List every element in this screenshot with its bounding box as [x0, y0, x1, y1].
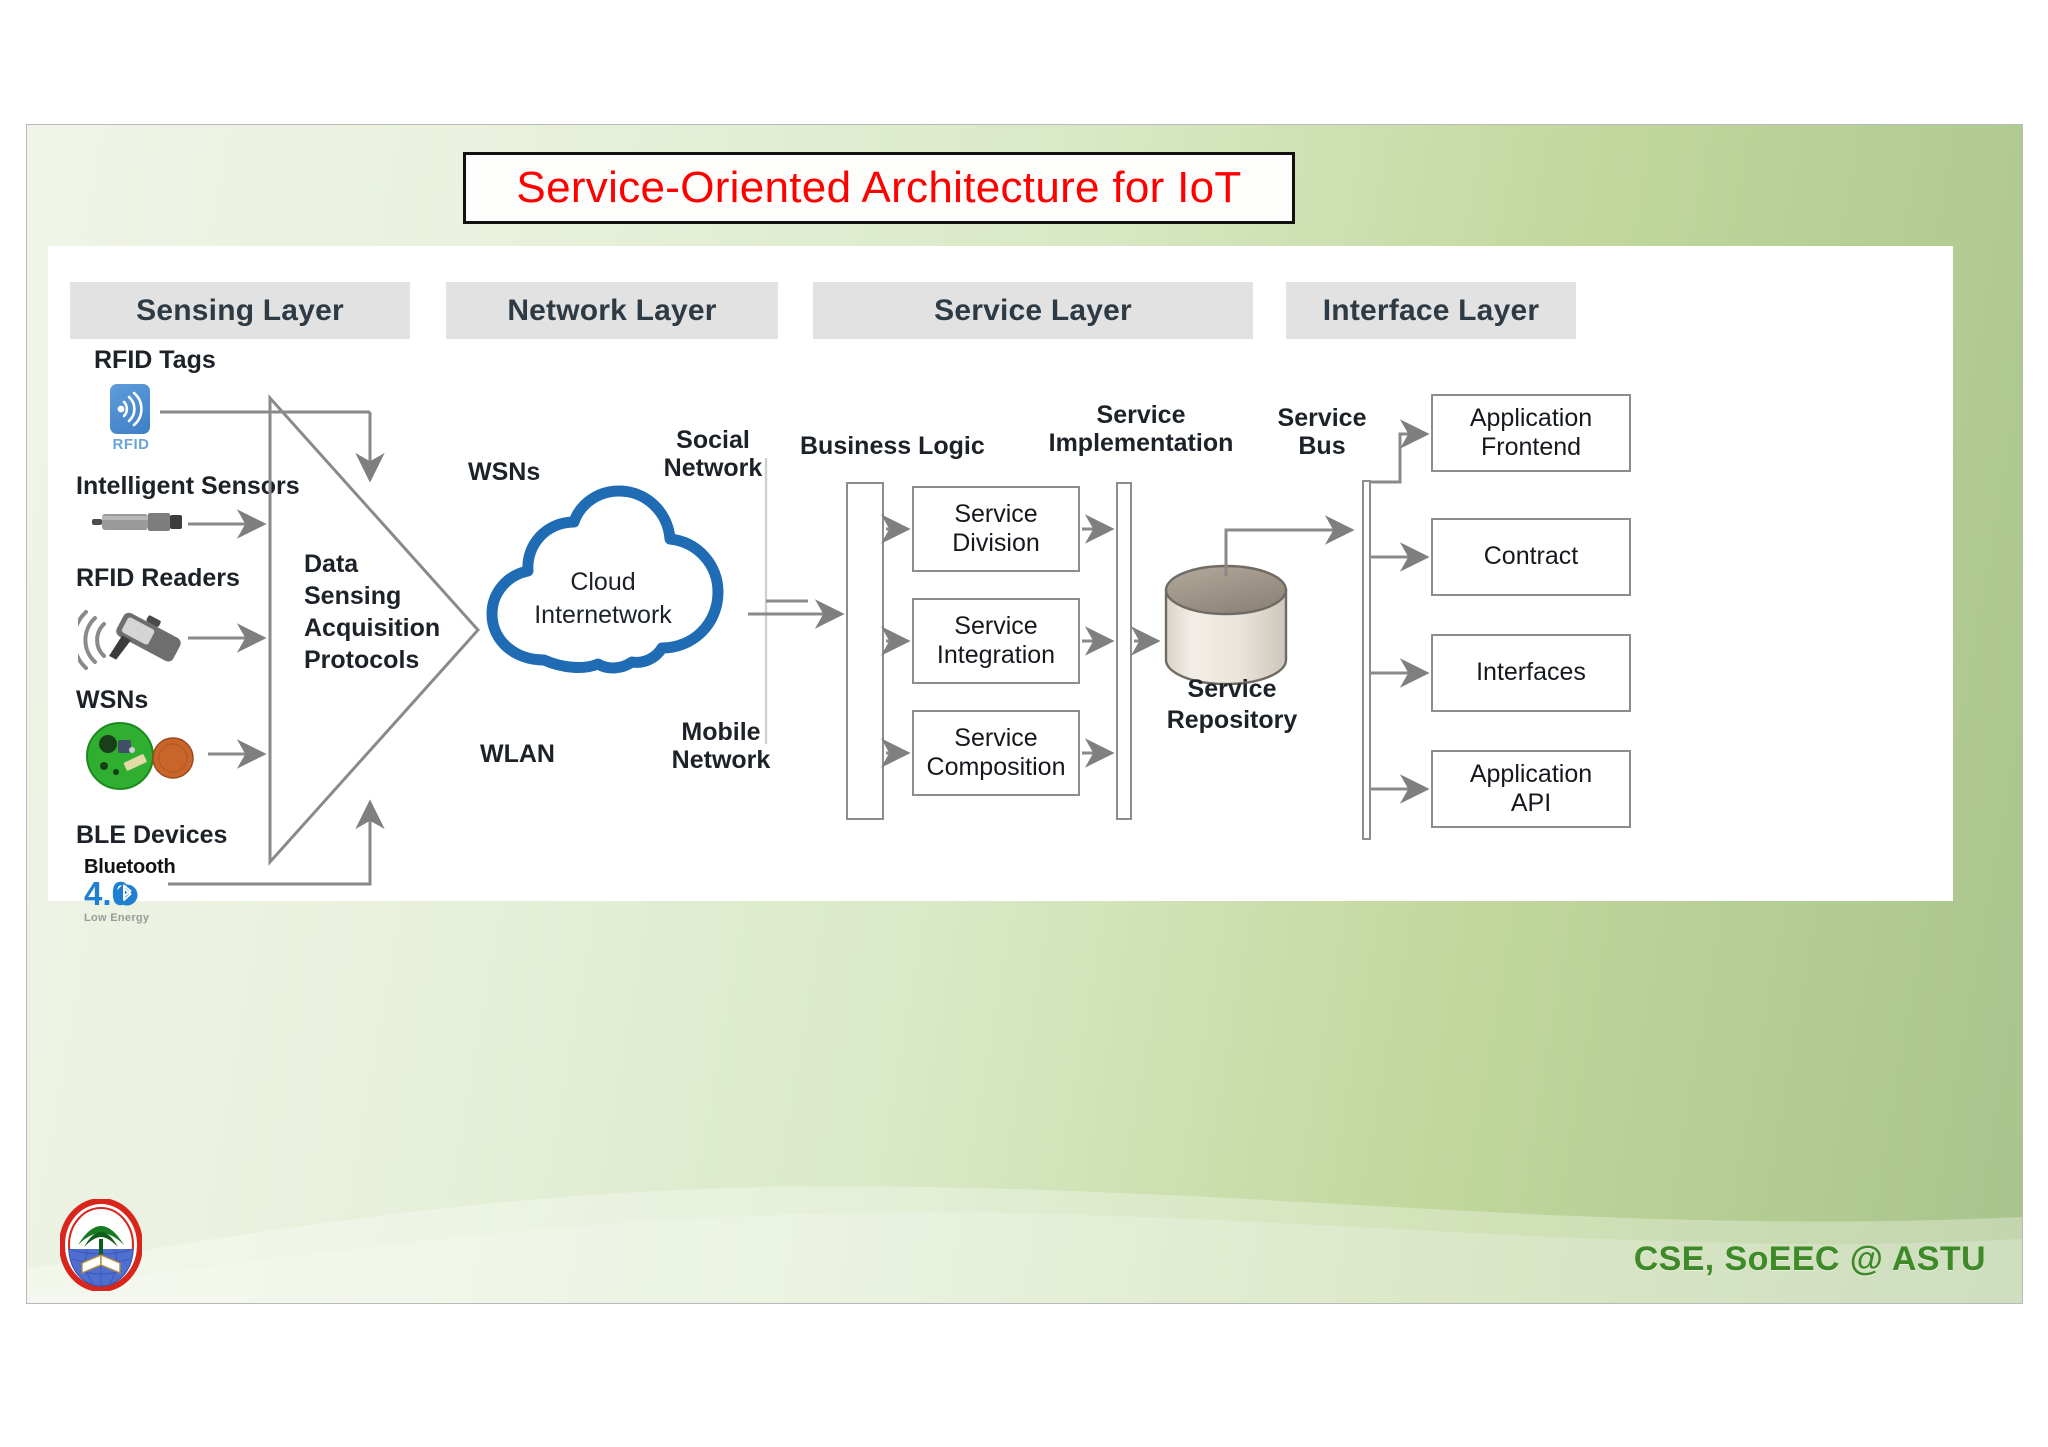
source-label-rfid-readers: RFID Readers [76, 564, 240, 592]
service-box-service-integration[interactable]: Service Integration [912, 598, 1080, 684]
data-sensing-triangle-label: Data Sensing Acquisition Protocols [304, 548, 434, 676]
service-implementation-bar [1116, 482, 1132, 820]
layer-header-service: Service Layer [813, 282, 1253, 339]
service-box-service-composition[interactable]: Service Composition [912, 710, 1080, 796]
rfid-tag-icon: RFID [110, 384, 150, 434]
network-annotation-wlan: WLAN [480, 740, 555, 768]
wsn-mote-icon [78, 720, 208, 797]
service-box-service-division[interactable]: Service Division [912, 486, 1080, 572]
layer-header-network-label: Network Layer [507, 294, 716, 328]
footer-credit: CSE, SoEEC @ ASTU [1634, 1240, 1986, 1279]
source-label-intelligent-sensors: Intelligent Sensors [76, 472, 300, 500]
source-label-rfid-tags: RFID Tags [94, 346, 216, 374]
slide-footer-swoosh [27, 1173, 2022, 1303]
service-repository-label: Service Repository [1152, 674, 1312, 736]
service-implementation-label: Service Implementation [1026, 401, 1256, 457]
layer-header-sensing: Sensing Layer [70, 282, 410, 339]
network-annotation-mobile-network: Mobile Network [656, 718, 786, 774]
slide-title-box: Service-Oriented Architecture for IoT [463, 152, 1295, 224]
source-label-wsns: WSNs [76, 686, 148, 714]
interface-box-interfaces[interactable]: Interfaces [1431, 634, 1631, 712]
rfid-reader-gun-icon [78, 598, 198, 683]
business-logic-bar [846, 482, 884, 820]
source-label-ble-devices: BLE Devices [76, 821, 227, 849]
service-bus-bar [1362, 480, 1371, 840]
sensor-probe-icon [90, 510, 190, 539]
layer-header-service-label: Service Layer [934, 294, 1132, 328]
layer-header-network: Network Layer [446, 282, 778, 339]
interface-box-contract[interactable]: Contract [1431, 518, 1631, 596]
business-logic-label: Business Logic [800, 432, 985, 460]
service-bus-label: Service Bus [1272, 404, 1372, 460]
layer-header-interface-label: Interface Layer [1323, 294, 1539, 328]
architecture-diagram-panel: Sensing Layer Network Layer Service Laye… [48, 246, 1953, 901]
rfid-tag-icon-caption: RFID [108, 436, 154, 453]
interface-box-application-frontend[interactable]: Application Frontend [1431, 394, 1631, 472]
bluetooth-tagline: Low Energy [84, 912, 176, 924]
interface-box-application-api[interactable]: Application API [1431, 750, 1631, 828]
layer-header-interface: Interface Layer [1286, 282, 1576, 339]
layer-header-sensing-label: Sensing Layer [136, 294, 344, 328]
page-title: Service-Oriented Architecture for IoT [516, 163, 1241, 213]
cloud-internetwork-label: Cloud Internetwork [498, 566, 708, 631]
astu-university-logo [60, 1199, 142, 1291]
bluetooth-logo-icon: Bluetooth 4.0 Low Energy [84, 856, 176, 924]
